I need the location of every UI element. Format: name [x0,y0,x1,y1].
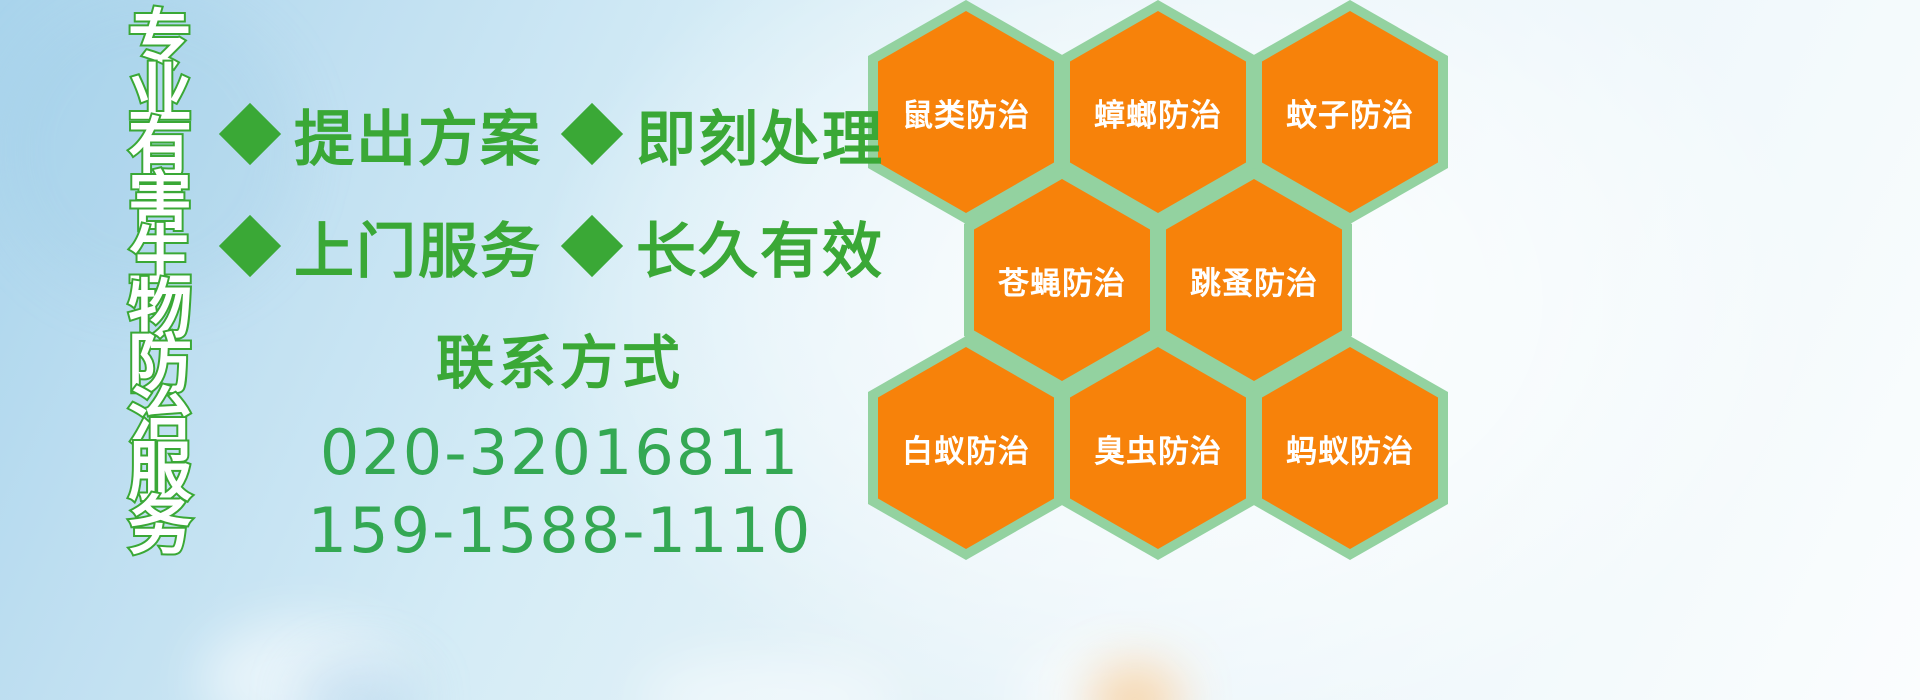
hex-inner: 蚊子防治 [1262,11,1438,213]
hex-inner: 臭虫防治 [1070,347,1246,549]
background-blob-center [640,655,900,700]
hex-inner: 蟑螂防治 [1070,11,1246,213]
hex-inner: 蚂蚁防治 [1262,347,1438,549]
vertical-headline: 专 业 有 害 生 物 防 治 服 务 [112,14,208,554]
hex-label: 蟑螂防治 [1094,90,1222,135]
vertical-headline-char: 务 [128,500,192,554]
hex-label: 蚂蚁防治 [1286,426,1414,471]
promo-banner: 专 业 有 害 生 物 防 治 服 务 提出方案 即刻处理 上门服务 长久有效 … [0,0,1920,700]
hex-inner: 白蚁防治 [878,347,1054,549]
background-blob-right-accent [1090,666,1180,700]
background-blob-left [200,620,410,700]
phone-number-mobile[interactable]: 159-1588-1110 [300,492,820,570]
hex-inner: 苍蝇防治 [974,179,1150,381]
hex-label: 臭虫防治 [1094,426,1222,471]
hex-inner: 跳蚤防治 [1166,179,1342,381]
contact-block: 联系方式 020-32016811 159-1588-1110 [300,316,820,570]
hex-label: 跳蚤防治 [1190,258,1318,303]
feature-list: 提出方案 即刻处理 上门服务 长久有效 [228,78,884,302]
phone-number-landline[interactable]: 020-32016811 [300,414,820,492]
diamond-bullet-icon [561,215,623,277]
hex-label: 苍蝇防治 [998,258,1126,303]
hex-label: 蚊子防治 [1286,90,1414,135]
hex-label: 鼠类防治 [902,90,1030,135]
feature-row: 提出方案 即刻处理 [228,78,884,190]
diamond-bullet-icon [219,103,281,165]
diamond-bullet-icon [219,215,281,277]
background-blob-left-accent [300,660,420,700]
background-blob-right [1020,640,1200,700]
service-honeycomb: 鼠类防治 蟑螂防治 蚊子防治 苍蝇防治 跳蚤防治 白蚁防治 [862,0,1462,554]
diamond-bullet-icon [561,103,623,165]
hex-label: 白蚁防治 [902,426,1030,471]
feature-label: 上门服务 [294,203,542,290]
feature-label: 提出方案 [294,91,542,178]
feature-row: 上门服务 长久有效 [228,190,884,302]
feature-label: 即刻处理 [636,91,884,178]
hex-inner: 鼠类防治 [878,11,1054,213]
contact-title: 联系方式 [300,316,820,400]
feature-label: 长久有效 [636,203,884,290]
